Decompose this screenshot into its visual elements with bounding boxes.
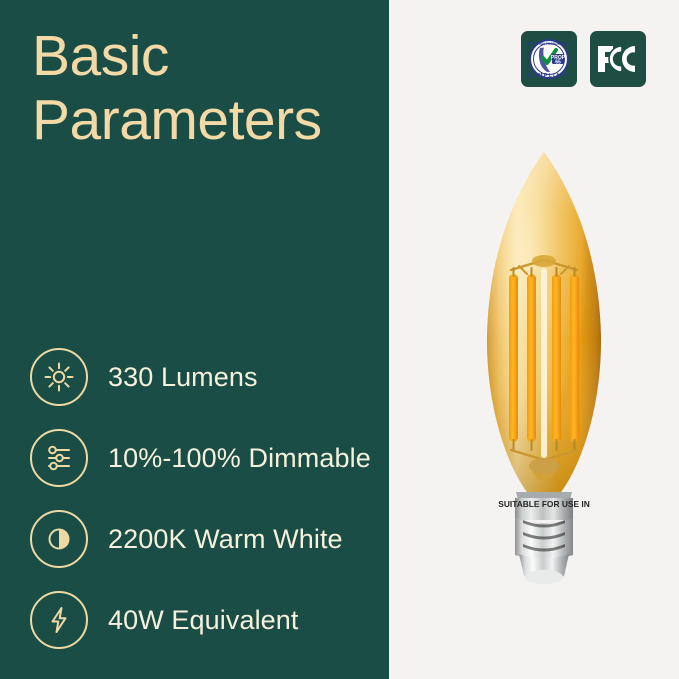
right-product-panel: PROP 65 CALIFORNIA PROPOSITION 65 COMPLI… xyxy=(389,0,679,679)
brightness-sun-icon xyxy=(30,348,88,406)
feature-item-color-temp: 2200K Warm White xyxy=(30,504,380,574)
page-title: Basic Parameters xyxy=(32,24,377,152)
page-title-line-2: Parameters xyxy=(32,88,377,152)
feature-label-dimmable: 10%-100% Dimmable xyxy=(108,443,371,473)
fcc-badge xyxy=(590,31,646,87)
feature-label-color-temp: 2200K Warm White xyxy=(108,524,343,554)
svg-text:65: 65 xyxy=(555,60,561,66)
feature-label-wattage: 40W Equivalent xyxy=(108,605,299,635)
svg-text:COMPLIANT: COMPLIANT xyxy=(528,73,571,79)
svg-text:CALIFORNIA PROPOSITION 65: CALIFORNIA PROPOSITION 65 xyxy=(526,42,572,46)
bulb-base-text: SUITABLE FOR USE IN xyxy=(498,499,590,509)
prop65-compliant-badge: PROP 65 CALIFORNIA PROPOSITION 65 COMPLI… xyxy=(521,31,577,87)
color-temperature-icon xyxy=(30,510,88,568)
feature-item-wattage: 40W Equivalent xyxy=(30,585,380,655)
certification-badge-row: PROP 65 CALIFORNIA PROPOSITION 65 COMPLI… xyxy=(521,31,646,87)
page-title-line-1: Basic xyxy=(32,24,377,88)
feature-list: 330 Lumens 10%-100% Dimmab xyxy=(30,342,380,666)
feature-item-lumens: 330 Lumens xyxy=(30,342,380,412)
feature-item-dimmable: 10%-100% Dimmable xyxy=(30,423,380,493)
lightning-bolt-icon xyxy=(30,591,88,649)
left-green-panel: Basic Parameters xyxy=(0,0,389,679)
product-infographic: Basic Parameters xyxy=(0,0,679,679)
feature-label-lumens: 330 Lumens xyxy=(108,362,258,392)
dimmer-sliders-icon xyxy=(30,429,88,487)
product-image-led-bulb: SUITABLE FOR USE IN xyxy=(449,148,639,618)
